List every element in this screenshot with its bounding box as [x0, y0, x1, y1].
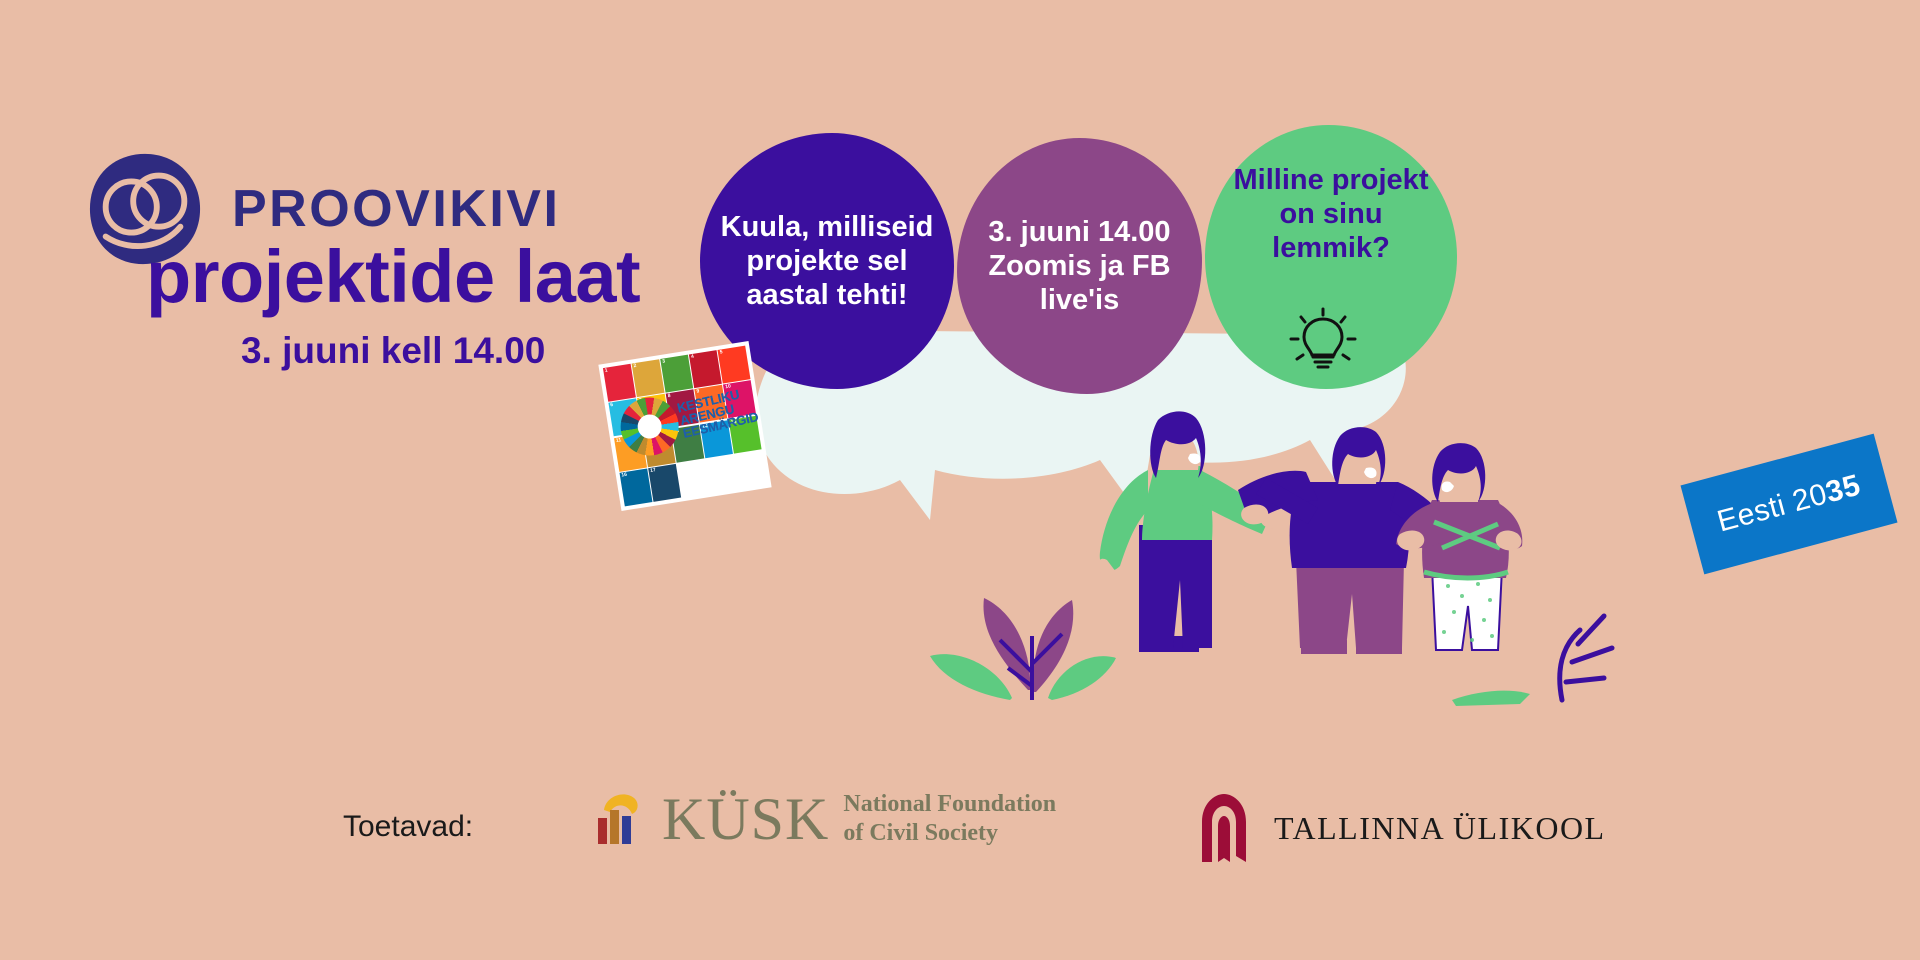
- sdg-goal-tile: 17: [648, 464, 681, 502]
- sdg-goal-number: 9: [696, 389, 700, 395]
- sdg-goal-number: 8: [667, 393, 671, 399]
- tlu-arch-icon: [1196, 792, 1252, 864]
- event-datetime: 3. juuni kell 14.00: [241, 330, 545, 372]
- sdg-goal-tile: [677, 460, 710, 498]
- sdg-goal-number: 4: [691, 354, 695, 360]
- twig-right: [1560, 616, 1612, 700]
- kusk-subtitle-line-2: of Civil Society: [843, 819, 1056, 848]
- sdg-goal-number: 17: [650, 467, 656, 474]
- sdg-goal-tile: 16: [620, 469, 653, 507]
- sdg-goal-number: 6: [610, 402, 614, 408]
- sdg-goal-number: 3: [662, 358, 666, 364]
- speech-bubble-when: 3. juuni 14.00 Zoomis ja FB live'is: [957, 138, 1202, 394]
- sdg-goal-tile: 3: [660, 355, 693, 393]
- eesti-badge-prefix: Eesti 20: [1714, 477, 1831, 538]
- kusk-subtitle-line-1: National Foundation: [843, 790, 1056, 819]
- sdg-goal-number: 5: [719, 349, 723, 355]
- supporters-label: Toetavad:: [343, 810, 473, 844]
- sdg-goal-tile: 4: [689, 350, 722, 388]
- sdg-poster: 1234567891011121314151617 KESTLIKU ARENG…: [598, 341, 771, 511]
- sdg-goal-tile: [706, 455, 739, 493]
- lightbulb-icon: [1287, 305, 1359, 371]
- sdg-goal-number: 16: [621, 472, 627, 479]
- sdg-goal-number: 1: [604, 367, 608, 373]
- sdg-goal-tile: 1: [603, 364, 636, 402]
- kusk-bars-icon: [588, 788, 648, 850]
- kusk-logo: KÜSK National Foundation of Civil Societ…: [588, 788, 1056, 850]
- sdg-goal-number: 11: [615, 437, 621, 444]
- tallinna-ulikool-name: TALLINNA ÜLIKOOL: [1274, 810, 1606, 847]
- eesti-2035-badge-text: Eesti 2035: [1714, 469, 1865, 540]
- sdg-goal-number: 2: [633, 363, 637, 369]
- sdg-goal-tile: 5: [718, 346, 751, 384]
- eesti-badge-suffix: 35: [1822, 469, 1864, 510]
- ground-shadow: [1452, 691, 1530, 706]
- tallinna-ulikool-logo: TALLINNA ÜLIKOOL: [1196, 792, 1606, 864]
- brand-name: PROOVIKIVI: [232, 183, 560, 235]
- sdg-goal-tile: 2: [632, 359, 665, 397]
- kusk-subtitle: National Foundation of Civil Society: [843, 790, 1056, 848]
- sdg-goal-tile: [734, 450, 767, 488]
- kusk-acronym: KÜSK: [662, 789, 829, 849]
- event-poster: PROOVIKIVI projektide laat 3. juuni kell…: [0, 0, 1920, 960]
- page-title: projektide laat: [146, 238, 640, 316]
